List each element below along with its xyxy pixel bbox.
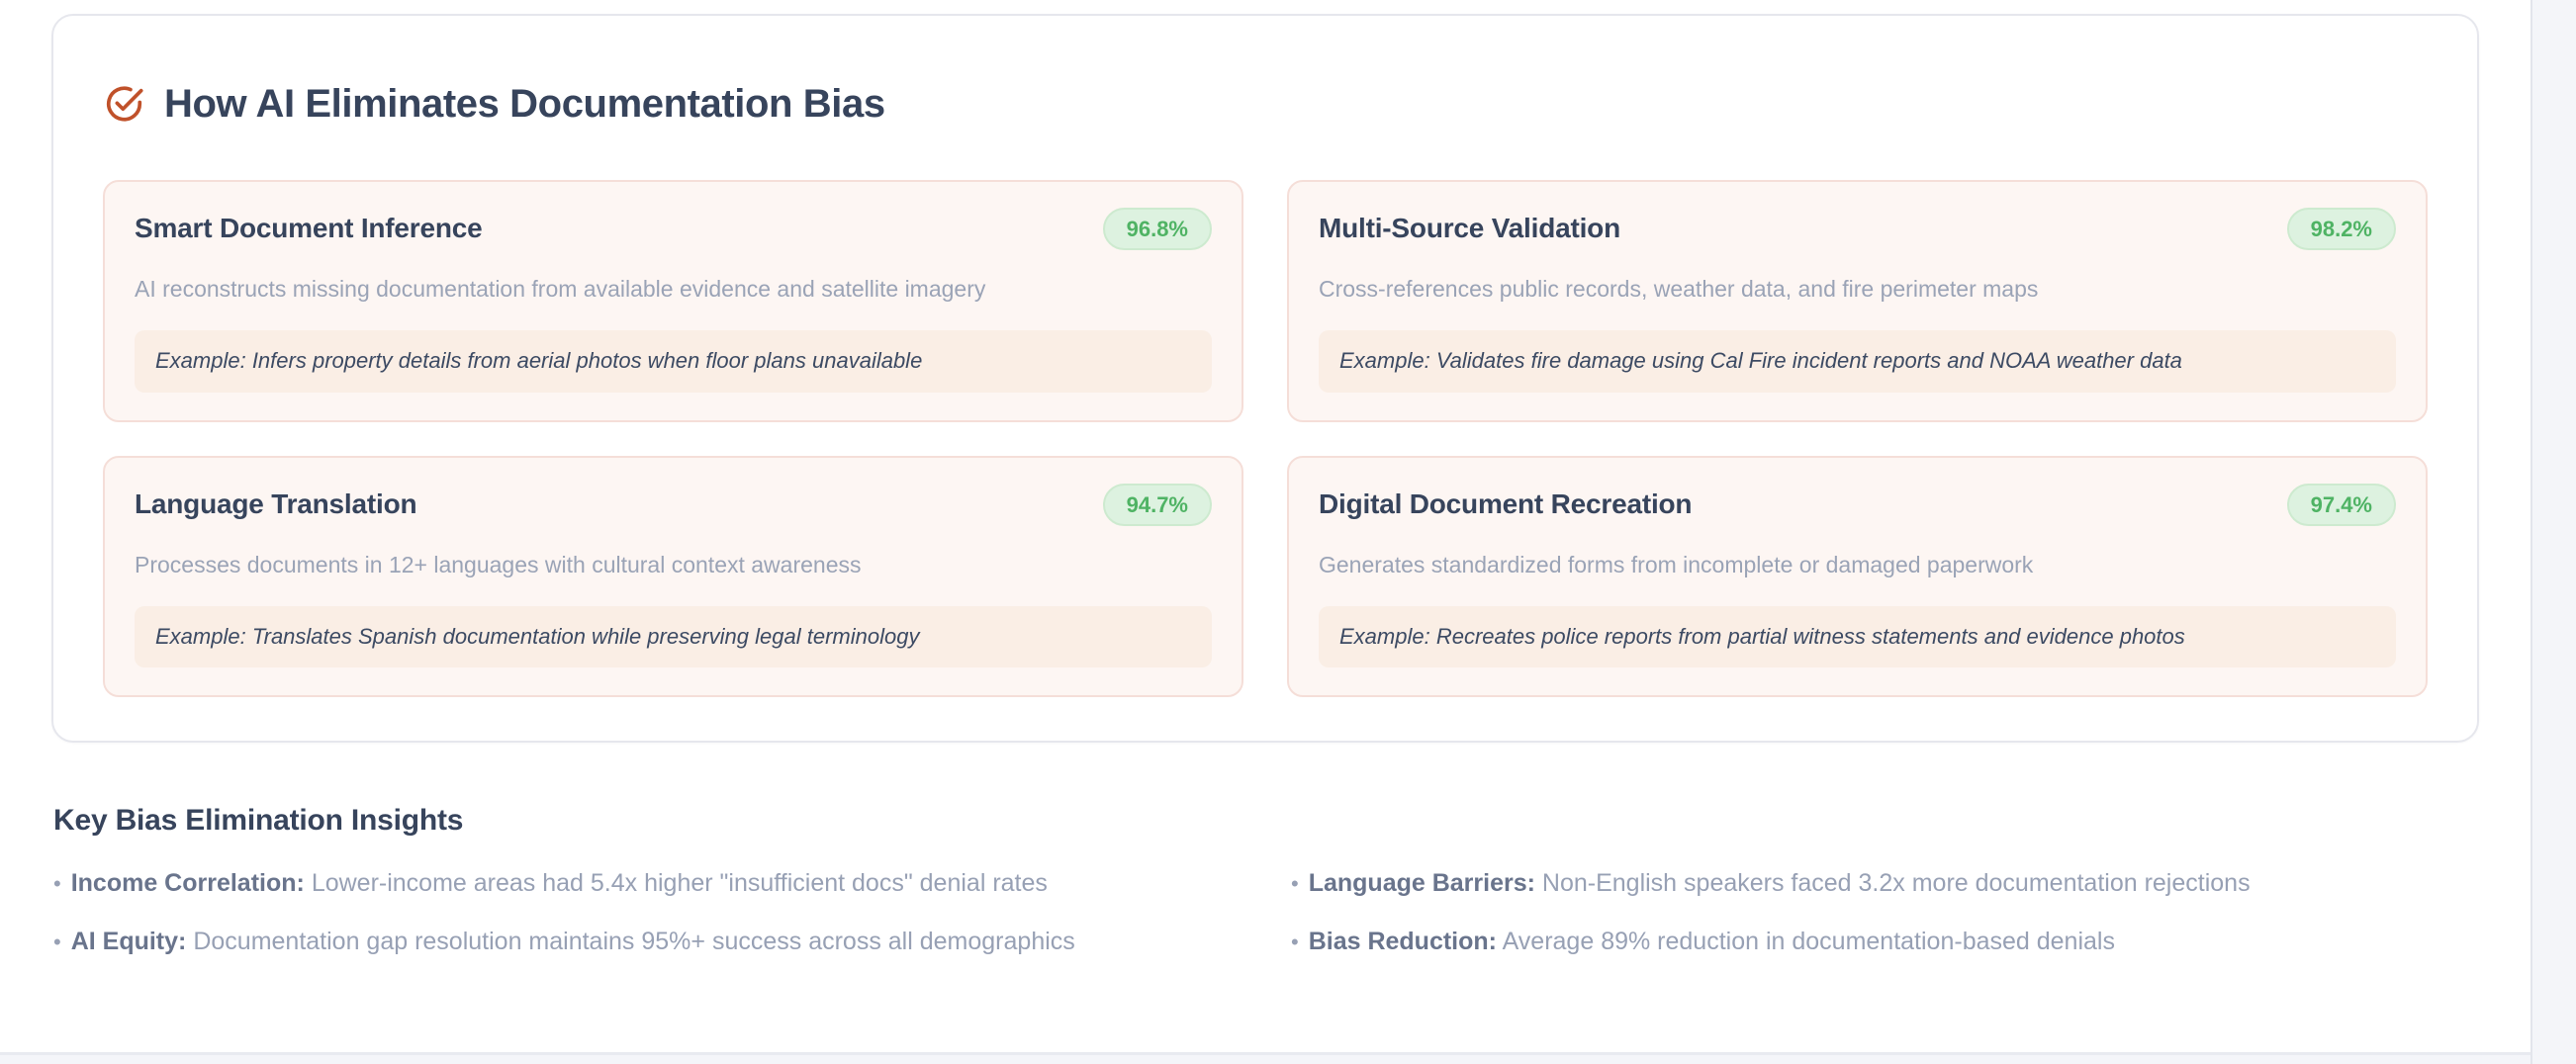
screenshot-viewport: How AI Eliminates Documentation Bias Sma… [0,0,2576,1064]
card-title: Smart Document Inference [135,213,483,244]
bias-card-smart-document-inference[interactable]: Smart Document Inference 96.8% AI recons… [103,180,1243,422]
card-example: Example: Translates Spanish documentatio… [135,606,1212,668]
page-content: How AI Eliminates Documentation Bias Sma… [0,0,2530,1052]
card-description: Processes documents in 12+ languages wit… [135,550,1212,580]
bias-card-digital-document-recreation[interactable]: Digital Document Recreation 97.4% Genera… [1287,456,2428,698]
card-title: Language Translation [135,488,416,520]
insight-item-language-barriers: • Language Barriers: Non-English speaker… [1291,867,2477,900]
status-badge: 98.2% [2287,208,2396,250]
card-header: Smart Document Inference 96.8% [135,208,1212,250]
insight-label: Bias Reduction: [1309,928,1497,955]
insight-text: Lower-income areas had 5.4x higher "insu… [312,869,1048,897]
card-example: Example: Infers property details from ae… [135,330,1212,393]
status-badge: 94.7% [1103,484,1212,526]
insight-text: Average 89% reduction in documentation-b… [1503,928,2115,955]
insight-item-income-correlation: • Income Correlation: Lower-income areas… [53,867,1240,900]
card-description: AI reconstructs missing documentation fr… [135,274,1212,305]
status-badge: 96.8% [1103,208,1212,250]
card-title: Digital Document Recreation [1319,488,1692,520]
card-title: Multi-Source Validation [1319,213,1620,244]
key-insights-section: Key Bias Elimination Insights • Income C… [51,804,2479,957]
card-header: Multi-Source Validation 98.2% [1319,208,2396,250]
bias-card-language-translation[interactable]: Language Translation 94.7% Processes doc… [103,456,1243,698]
insight-item-ai-equity: • AI Equity: Documentation gap resolutio… [53,926,1240,958]
card-header: Language Translation 94.7% [135,484,1212,526]
bottom-gutter [0,1055,2530,1064]
insight-text: Documentation gap resolution maintains 9… [193,928,1074,955]
documentation-bias-panel: How AI Eliminates Documentation Bias Sma… [51,14,2479,743]
bullet-icon: • [53,931,61,953]
circle-check-icon [103,83,144,125]
bullet-icon: • [1291,873,1299,895]
card-header: Digital Document Recreation 97.4% [1319,484,2396,526]
insight-label: Income Correlation: [71,869,305,897]
bullet-icon: • [1291,931,1299,953]
panel-header: How AI Eliminates Documentation Bias [91,45,2439,150]
status-badge: 97.4% [2287,484,2396,526]
card-description: Generates standardized forms from incomp… [1319,550,2396,580]
insights-grid: • Income Correlation: Lower-income areas… [53,867,2477,957]
page-title: How AI Eliminates Documentation Bias [164,84,885,124]
card-example: Example: Recreates police reports from p… [1319,606,2396,668]
insight-label: Language Barriers: [1309,869,1535,897]
bias-card-multi-source-validation[interactable]: Multi-Source Validation 98.2% Cross-refe… [1287,180,2428,422]
bias-card-grid: Smart Document Inference 96.8% AI recons… [91,180,2439,698]
insight-item-bias-reduction: • Bias Reduction: Average 89% reduction … [1291,926,2477,958]
right-gutter [2530,0,2576,1064]
card-description: Cross-references public records, weather… [1319,274,2396,305]
bullet-icon: • [53,873,61,895]
insight-text: Non-English speakers faced 3.2x more doc… [1542,869,2251,897]
card-example: Example: Validates fire damage using Cal… [1319,330,2396,393]
insights-heading: Key Bias Elimination Insights [53,804,2477,838]
insight-label: AI Equity: [71,928,187,955]
